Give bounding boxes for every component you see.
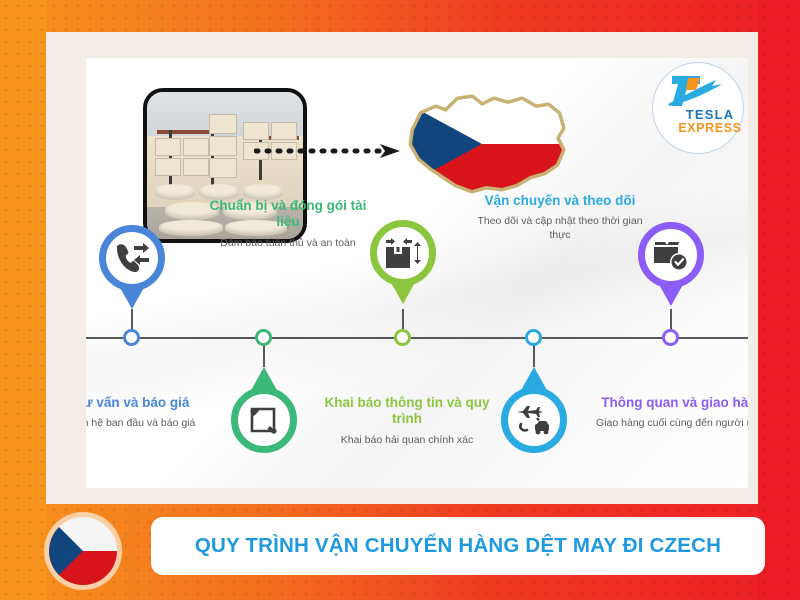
timeline-axis: [86, 337, 748, 339]
czech-flag-icon: [49, 517, 117, 585]
infographic-canvas: TESLA EXPRESS: [86, 58, 748, 488]
box-dimensions-icon: [370, 220, 436, 286]
dotted-arrow-icon: [254, 142, 402, 160]
step-title-5: Thông quan và giao hàng: [595, 395, 748, 411]
document-sign-icon: [231, 387, 297, 453]
poster-title: QUY TRÌNH VẬN CHUYỂN HÀNG DỆT MAY ĐI CZE…: [195, 534, 721, 558]
step-title-4: Vận chuyến và theo dõi: [472, 193, 648, 209]
logo-wordmark: TESLA EXPRESS: [670, 108, 748, 135]
border-left-band: [0, 0, 46, 600]
step-text-3: Khai báo thông tin và quy trình Khai báo…: [319, 395, 495, 448]
parcel-check-icon: [638, 222, 704, 288]
step-title-3: Khai báo thông tin và quy trình: [319, 395, 495, 428]
step-text-1: Tư vấn và báo giá Liên hệ ban đầu và báo…: [86, 395, 220, 431]
step-desc-5: Giao hàng cuối cùng đến người nhận: [595, 417, 748, 431]
pin-step-2[interactable]: [231, 367, 297, 453]
logo-swoosh-icon: [666, 72, 728, 110]
pin-step-4[interactable]: [501, 367, 567, 453]
logo-text-tesla: TESLA: [670, 108, 748, 122]
pin-step-1[interactable]: [99, 225, 165, 309]
poster-title-bar: QUY TRÌNH VẬN CHUYỂN HÀNG DỆT MAY ĐI CZE…: [151, 517, 765, 575]
phone-exchange-icon: [99, 225, 165, 291]
timeline-node-2[interactable]: [255, 329, 272, 346]
logo-text-express: EXPRESS: [670, 122, 748, 135]
dot-pattern-top: [0, 0, 800, 32]
border-right-band: [758, 0, 800, 600]
step-title-1: Tư vấn và báo giá: [86, 395, 220, 411]
plane-truck-icon: [501, 387, 567, 453]
dot-pattern-left: [0, 0, 46, 600]
step-text-5: Thông quan và giao hàng Giao hàng cuối c…: [595, 395, 748, 431]
timeline-node-4[interactable]: [525, 329, 542, 346]
timeline-node-3[interactable]: [394, 329, 411, 346]
border-top-band: [0, 0, 800, 32]
pin-step-3[interactable]: [370, 220, 436, 304]
step-title-2: Chuẩn bị và đóng gói tài liệu: [200, 198, 376, 231]
step-text-2: Chuẩn bị và đóng gói tài liệu Đảm bảo tu…: [200, 198, 376, 251]
step-desc-2: Đảm bảo tuân thủ và an toàn: [200, 237, 376, 251]
step-desc-1: Liên hệ ban đầu và báo giá: [86, 417, 220, 431]
step-text-4: Vận chuyến và theo dõi Theo dõi và cập n…: [472, 193, 648, 243]
step-desc-4: Theo dõi và cập nhật theo thời gian thực: [472, 215, 648, 242]
dot-pattern-right: [758, 0, 800, 600]
czech-flag-badge: [44, 512, 122, 590]
step-desc-3: Khai báo hải quan chính xác: [319, 434, 495, 448]
pin-step-5[interactable]: [638, 222, 704, 306]
timeline-node-5[interactable]: [662, 329, 679, 346]
timeline-node-1[interactable]: [123, 329, 140, 346]
tesla-express-logo: TESLA EXPRESS: [644, 58, 748, 156]
